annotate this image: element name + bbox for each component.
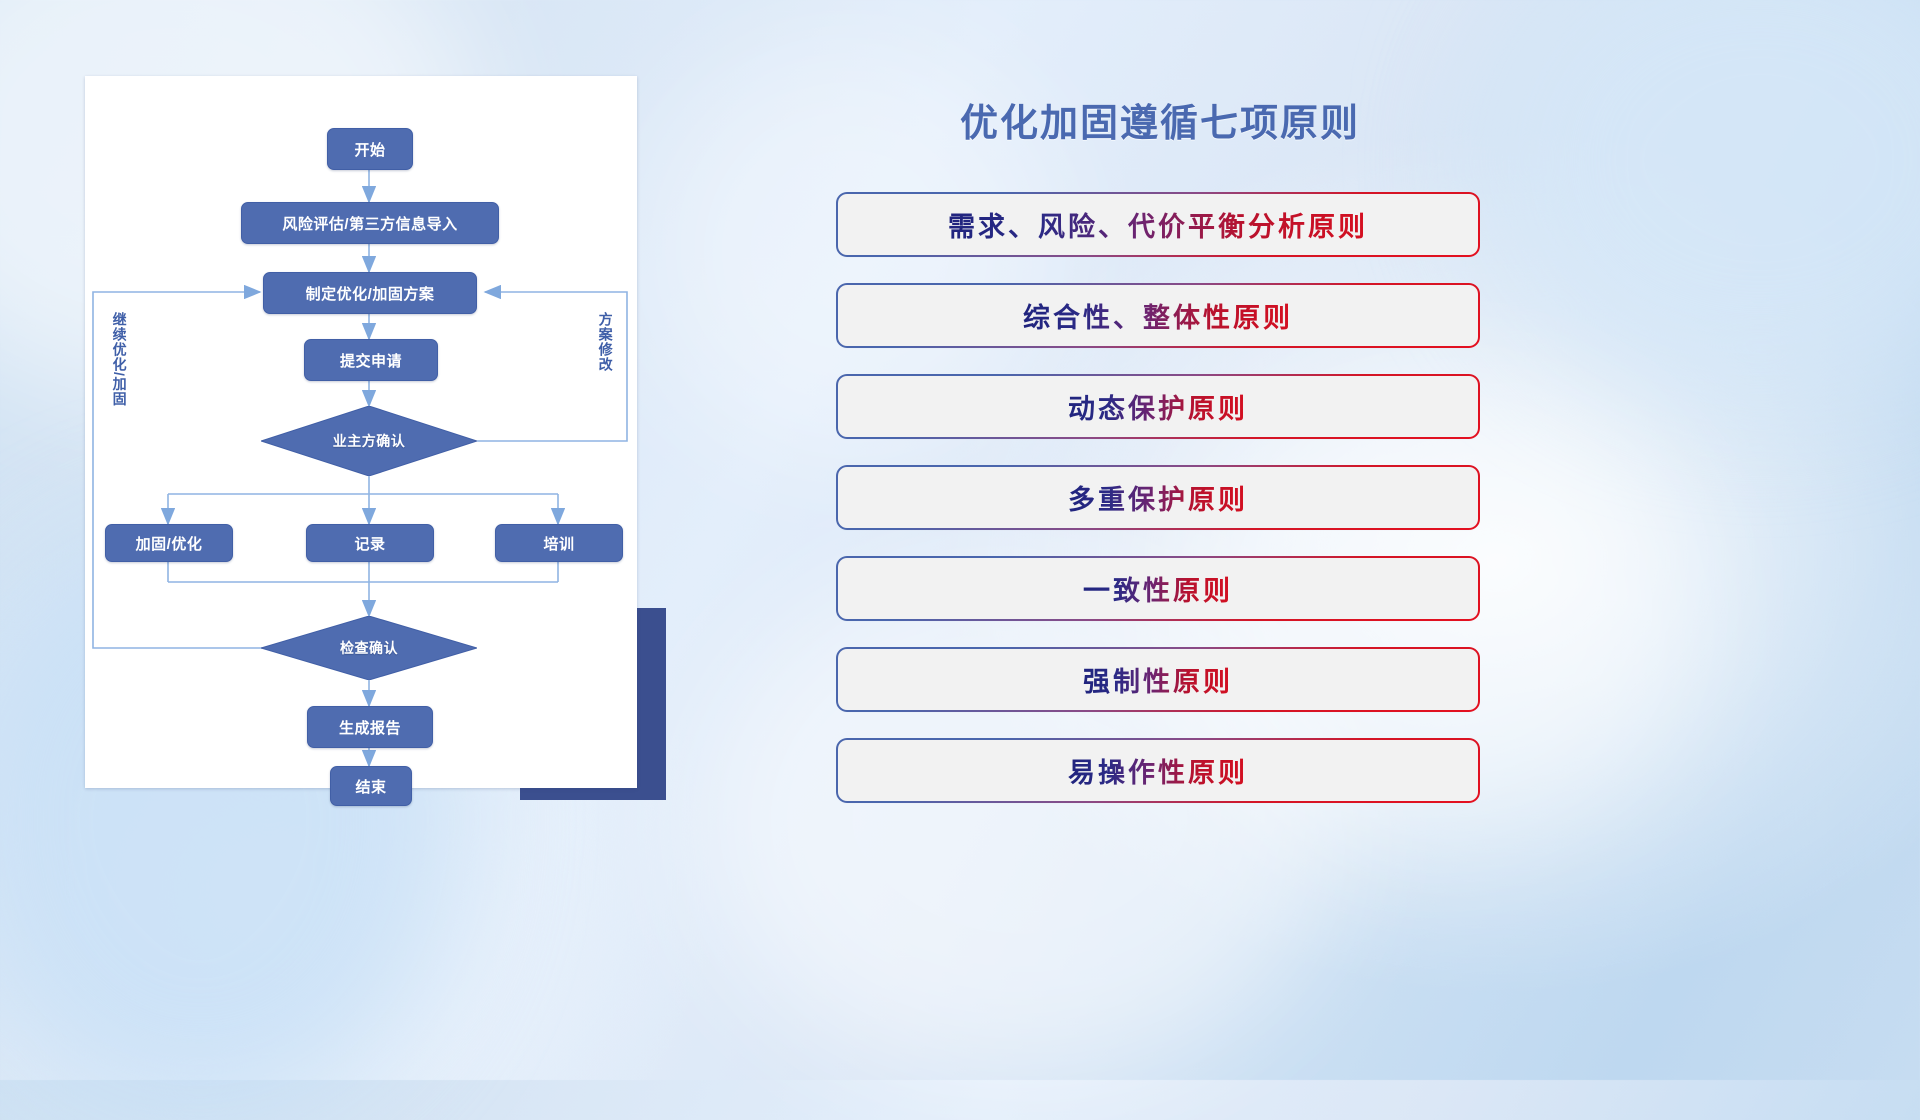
panel-title: 优化加固遵循七项原则 xyxy=(836,92,1484,147)
principle-item[interactable]: 需求、风险、代价平衡分析原则 xyxy=(838,194,1478,255)
flow-node-label: 制定优化/加固方案 xyxy=(306,283,435,304)
flow-node-risk-assessment[interactable]: 风险评估/第三方信息导入 xyxy=(241,202,499,244)
flow-node-label: 生成报告 xyxy=(339,717,401,738)
flow-node-label: 风险评估/第三方信息导入 xyxy=(282,213,457,234)
principle-item[interactable]: 易操作性原则 xyxy=(838,740,1478,801)
flow-node-owner-confirm[interactable]: 业主方确认 xyxy=(261,406,477,476)
flow-node-submit-application[interactable]: 提交申请 xyxy=(304,339,438,381)
principle-label: 需求、风险、代价平衡分析原则 xyxy=(948,205,1368,244)
flow-node-training[interactable]: 培训 xyxy=(495,524,623,562)
principle-label: 动态保护原则 xyxy=(1068,387,1248,426)
flow-node-label: 检查确认 xyxy=(261,616,477,680)
flowchart-card: 开始 风险评估/第三方信息导入 制定优化/加固方案 提交申请 业主方确认 加固/… xyxy=(85,76,637,788)
principle-label: 一致性原则 xyxy=(1083,569,1233,608)
flow-edge-label-continue-optimize: 继续优化/加固 xyxy=(111,312,127,442)
flow-node-generate-report[interactable]: 生成报告 xyxy=(307,706,433,748)
principle-label: 多重保护原则 xyxy=(1068,478,1248,517)
flow-node-label: 培训 xyxy=(543,533,574,554)
flow-node-end[interactable]: 结束 xyxy=(330,766,412,806)
principle-item[interactable]: 一致性原则 xyxy=(838,558,1478,619)
principle-label: 易操作性原则 xyxy=(1068,751,1248,790)
flow-node-check-confirm[interactable]: 检查确认 xyxy=(261,616,477,680)
flow-node-start[interactable]: 开始 xyxy=(327,128,413,170)
flow-node-label: 加固/优化 xyxy=(136,533,203,554)
principle-item[interactable]: 动态保护原则 xyxy=(838,376,1478,437)
principle-item[interactable]: 综合性、整体性原则 xyxy=(838,285,1478,346)
flow-node-plan[interactable]: 制定优化/加固方案 xyxy=(263,272,477,314)
flow-node-label: 结束 xyxy=(355,776,386,797)
flow-node-label: 开始 xyxy=(354,139,385,160)
principles-panel: 优化加固遵循七项原则 需求、风险、代价平衡分析原则 综合性、整体性原则 动态保护… xyxy=(836,80,1484,820)
flow-node-label: 记录 xyxy=(354,533,385,554)
flow-node-label: 提交申请 xyxy=(340,350,402,371)
flow-node-label: 业主方确认 xyxy=(261,406,477,476)
background-blob xyxy=(1480,0,1920,400)
principle-label: 强制性原则 xyxy=(1083,660,1233,699)
principle-item[interactable]: 强制性原则 xyxy=(838,649,1478,710)
principle-item[interactable]: 多重保护原则 xyxy=(838,467,1478,528)
flow-node-reinforce[interactable]: 加固/优化 xyxy=(105,524,233,562)
flow-node-record[interactable]: 记录 xyxy=(306,524,434,562)
flow-edge-label-plan-revision: 方案修改 xyxy=(597,312,613,412)
principle-label: 综合性、整体性原则 xyxy=(1023,296,1293,335)
